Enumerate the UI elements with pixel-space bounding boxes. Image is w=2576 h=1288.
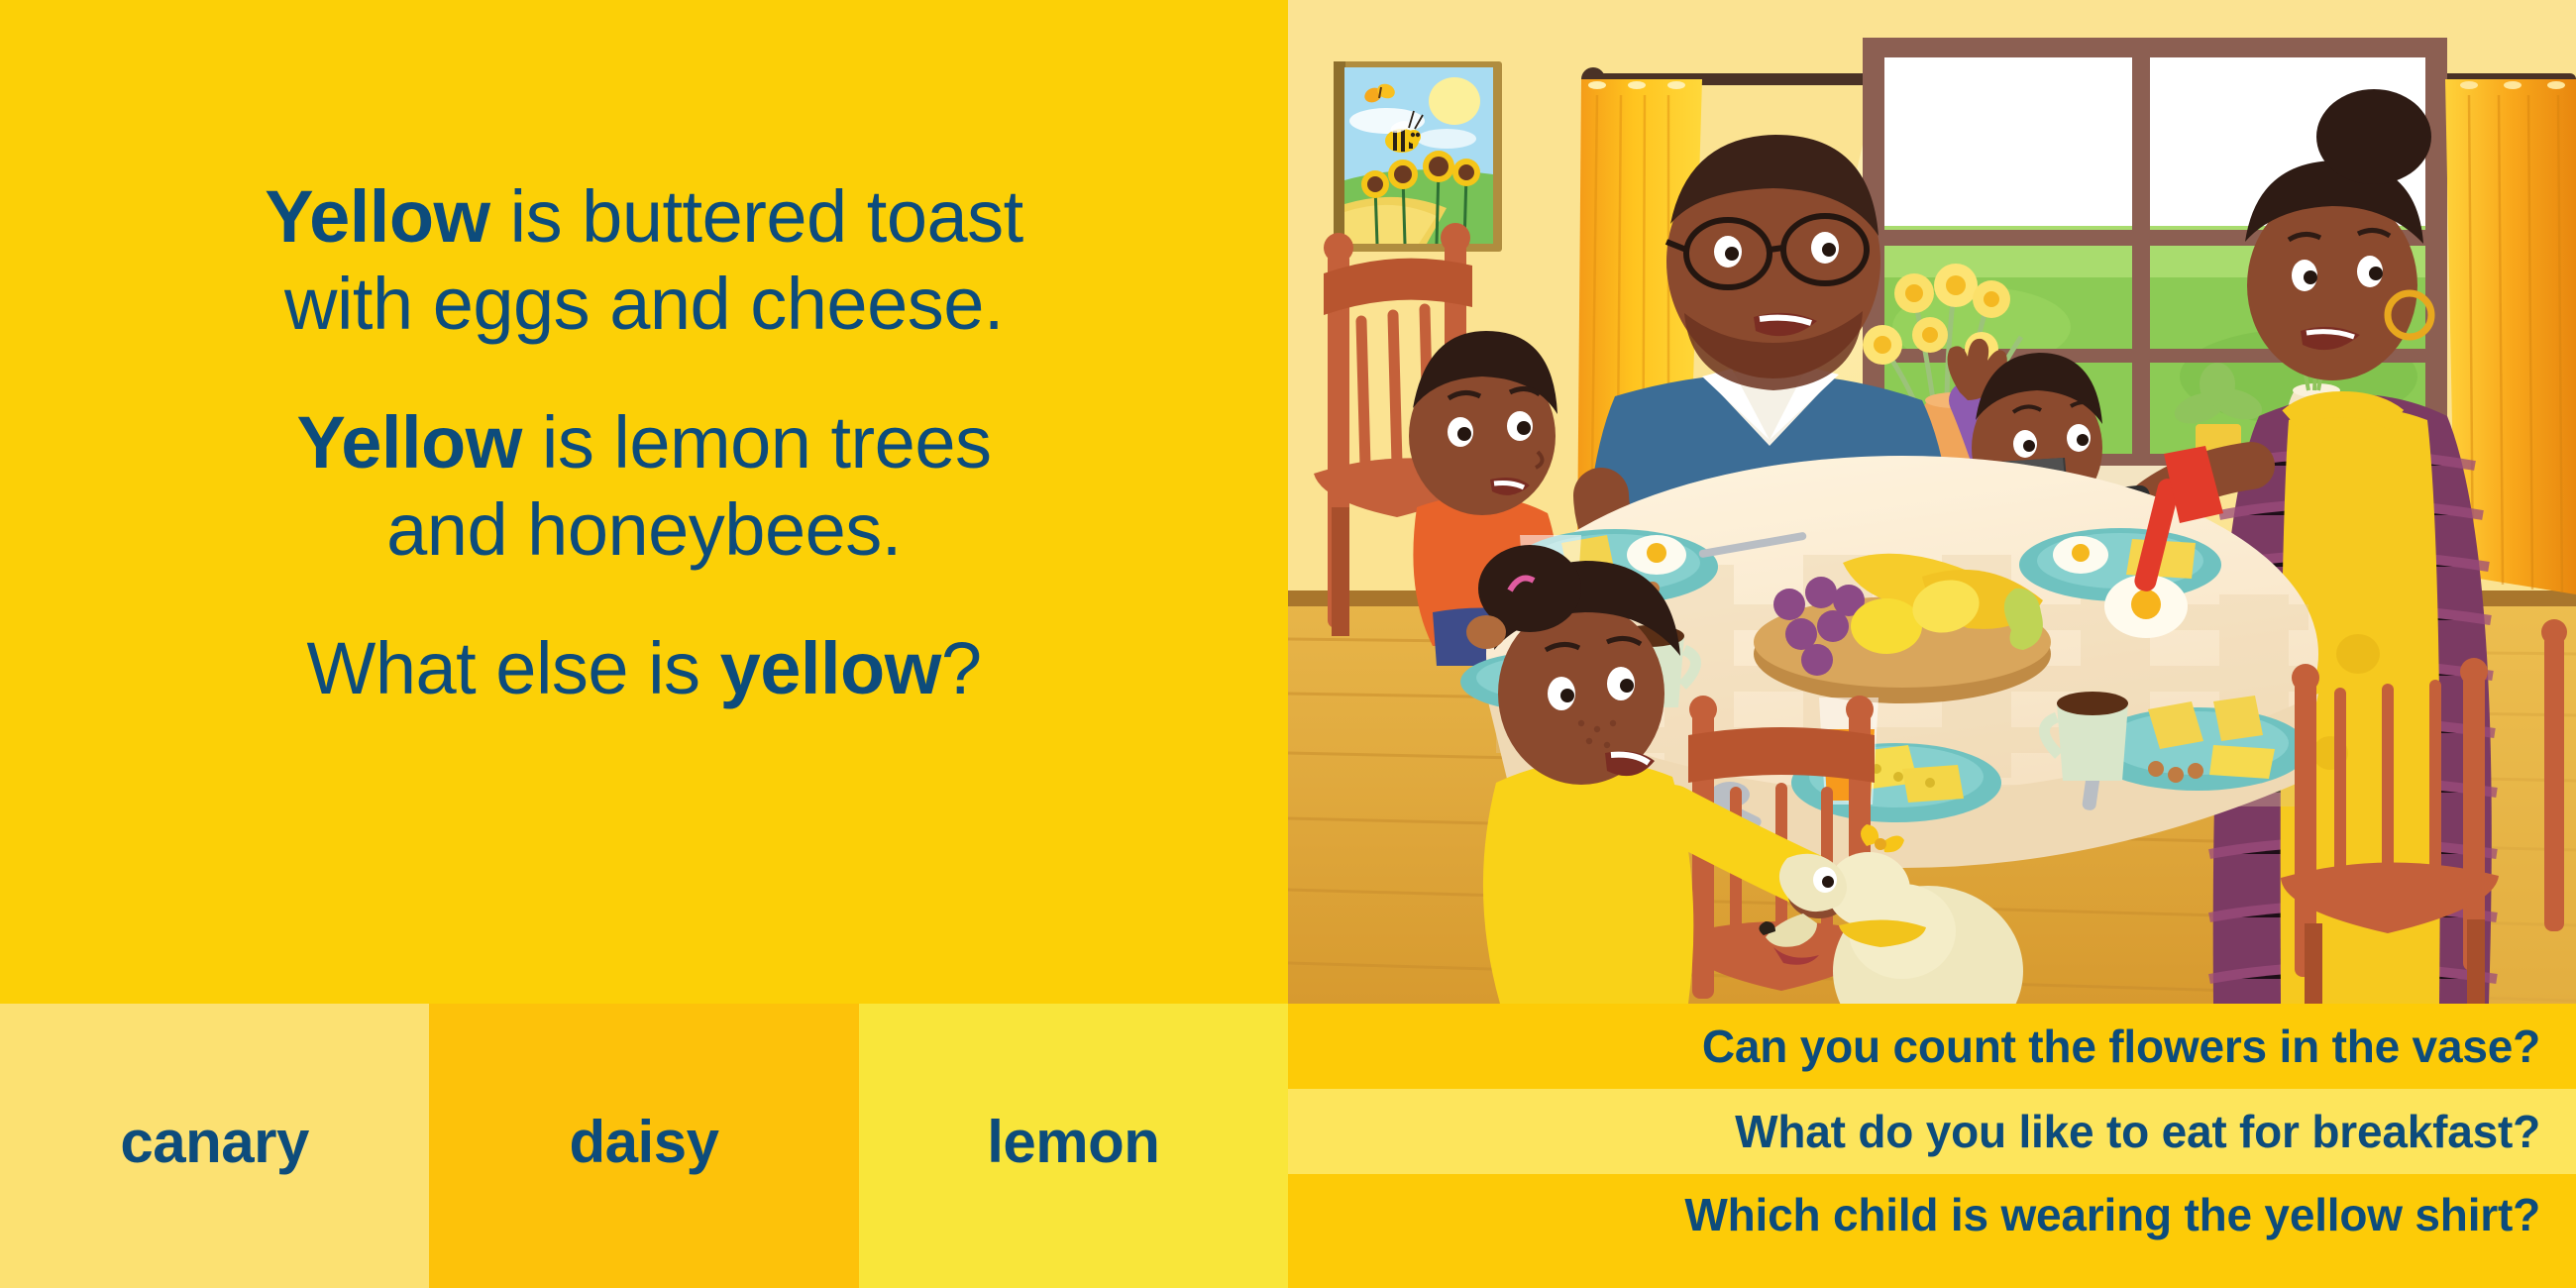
verse-line-5-post: ? [941,627,982,709]
verse-line-5-pre: What else is [307,627,720,709]
framed-bee-picture-icon [1334,61,1502,252]
swatch-label-daisy: daisy [570,1108,719,1176]
verse-line-1-rest: is buttered toast [490,175,1023,258]
lemon [1851,598,1922,654]
question-text-1: Can you count the flowers in the vase? [1702,1020,2540,1073]
question-bar-3[interactable]: Which child is wearing the yellow shirt? [1288,1174,2576,1288]
left-text-panel: Yellow is buttered toast with eggs and c… [0,0,1288,1004]
verse-stanza-3: What else is yellow? [69,625,1219,712]
swatch-canary[interactable]: canary [0,1004,429,1288]
question-bar-2[interactable]: What do you like to eat for breakfast? [1288,1089,2576,1174]
book-spread: Yellow is buttered toast with eggs and c… [0,0,2576,1288]
question-text-3: Which child is wearing the yellow shirt? [1684,1188,2540,1241]
color-swatch-band: canary daisy lemon [0,1004,1288,1288]
verse-line-3-rest: is lemon trees [522,401,992,483]
illustration-family-breakfast [1288,0,2576,1004]
verse-line-4: and honeybees. [69,486,1219,574]
verse-stanza-2: Yellow is lemon trees and honeybees. [69,399,1219,574]
verse-line-5-bold: yellow [720,627,941,709]
daffodil-flower [1973,280,2010,318]
verse-line-2: with eggs and cheese. [69,261,1219,348]
chair-far-right [2541,619,2567,931]
verse-line-1-bold: Yellow [265,175,489,258]
question-bars: Can you count the flowers in the vase? W… [1288,1004,2576,1288]
verse-line-1: Yellow is buttered toast [69,173,1219,261]
daffodil-flower [1934,264,1978,307]
swatch-label-canary: canary [120,1108,308,1176]
verse-line-3-bold: Yellow [297,401,522,483]
daffodil-flower [1894,273,1934,313]
verse-line-3: Yellow is lemon trees [69,399,1219,486]
swatch-lemon[interactable]: lemon [859,1004,1288,1288]
swatch-daisy[interactable]: daisy [429,1004,858,1288]
daffodil-flower [1912,317,1948,353]
question-bar-1[interactable]: Can you count the flowers in the vase? [1288,1004,2576,1089]
verse-block: Yellow is buttered toast with eggs and c… [0,0,1288,1004]
swatch-label-lemon: lemon [987,1108,1159,1176]
daffodil-flower [1863,325,1902,365]
question-text-2: What do you like to eat for breakfast? [1735,1105,2540,1158]
verse-stanza-1: Yellow is buttered toast with eggs and c… [69,173,1219,348]
verse-line-5: What else is yellow? [69,625,1219,712]
